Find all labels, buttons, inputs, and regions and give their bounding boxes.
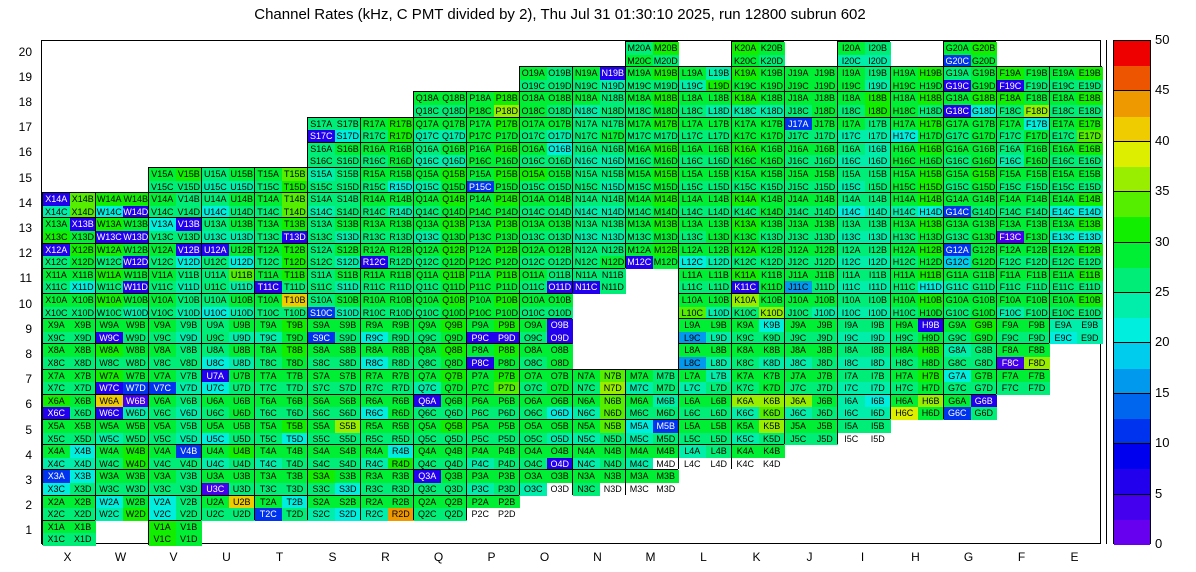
- channel-w5a: W5A: [96, 420, 123, 433]
- channel-j18a: J18A: [785, 92, 812, 105]
- channel-i18a: I18A: [838, 92, 865, 105]
- channel-m12a: M12A: [626, 244, 653, 257]
- channel-v1d: V1D: [176, 533, 203, 546]
- grid-cell-i6: I6AI6BI6CI6D: [837, 394, 890, 419]
- channel-k12b: K12B: [759, 244, 786, 257]
- channel-q16a: Q16A: [414, 143, 441, 156]
- grid-cell-s3: S3AS3BS3CS3D: [307, 469, 360, 494]
- channel-e16b: E16B: [1077, 143, 1104, 156]
- channel-v12b: V12B: [176, 244, 203, 257]
- channel-g7b: G7B: [971, 370, 998, 383]
- channel-k14a: K14A: [732, 193, 759, 206]
- channel-e9a: E9A: [1050, 319, 1077, 332]
- grid-cell-q13: Q13AQ13BQ13CQ13D: [413, 217, 466, 242]
- channel-l6a: L6A: [679, 395, 706, 408]
- grid-cell-s13: S13AS13BS13CS13D: [307, 217, 360, 242]
- grid-cell-r10: R10AR10BR10CR10D: [360, 293, 413, 318]
- channel-u2c: U2C: [202, 508, 229, 521]
- colorbar-band-17: [1114, 91, 1150, 116]
- channel-f17b: F17B: [1024, 118, 1051, 131]
- grid-cell-u7: U7AU7BU7CU7D: [201, 369, 254, 394]
- channel-s15b: S15B: [335, 168, 362, 181]
- grid-cell-k19: K19AK19BK19CK19D: [731, 66, 784, 91]
- grid-cell-m12: M12AM12BM12CM12D: [625, 243, 678, 268]
- channel-j14a: J14A: [785, 193, 812, 206]
- colorbar-band-6: [1114, 369, 1150, 394]
- channel-q6a: Q6A: [414, 395, 441, 408]
- channel-s8a: S8A: [308, 344, 335, 357]
- grid-cell-x3: X3AX3BX3CX3D: [42, 469, 95, 494]
- channel-i17a: I17A: [838, 118, 865, 131]
- channel-t5a: T5A: [255, 420, 282, 433]
- channel-o14b: O14B: [547, 193, 574, 206]
- grid-cell-k17: K17AK17BK17CK17D: [731, 117, 784, 142]
- channel-k16a: K16A: [732, 143, 759, 156]
- grid-cell-u14: U14AU14BU14CU14D: [201, 192, 254, 217]
- channel-s2b: S2B: [335, 496, 362, 509]
- grid-cell-j9: J9AJ9BJ9CJ9D: [784, 318, 837, 343]
- grid-cell-w6: W6AW6BW6CW6D: [95, 394, 148, 419]
- channel-r16a: R16A: [361, 143, 388, 156]
- grid-cell-g17: G17AG17BG17CG17D: [943, 117, 996, 142]
- channel-h13b: H13B: [918, 218, 945, 231]
- colorbar-label-20: 20: [1155, 334, 1169, 349]
- channel-g6a: G6A: [944, 395, 971, 408]
- grid-cell-f11: F11AF11BF11CF11D: [996, 268, 1049, 293]
- grid-cell-m4: M4AM4BM4CM4D: [625, 444, 678, 469]
- grid-cell-j17: J17AJ17BJ17CJ17D: [784, 117, 837, 142]
- channel-v7b: V7B: [176, 370, 203, 383]
- channel-p9b: P9B: [494, 319, 521, 332]
- channel-v14a: V14A: [149, 193, 176, 206]
- grid-cell-m19: M19AM19BM19CM19D: [625, 66, 678, 91]
- grid-cell-h10: H10AH10BH10CH10D: [890, 293, 943, 318]
- channel-h12b: H12B: [918, 244, 945, 257]
- channel-g10a: G10A: [944, 294, 971, 307]
- channel-v9a: V9A: [149, 319, 176, 332]
- grid-cell-x12: X12AX12BX12CX12D: [42, 243, 95, 268]
- grid-cell-q2: Q2AQ2BQ2CQ2D: [413, 495, 466, 520]
- grid-cell-j8: J8AJ8BJ8CJ8D: [784, 343, 837, 368]
- channel-s14b: S14B: [335, 193, 362, 206]
- channel-f11b: F11B: [1024, 269, 1051, 282]
- channel-e13a: E13A: [1050, 218, 1077, 231]
- channel-f13a: F13A: [997, 218, 1024, 231]
- channel-h9b: H9B: [918, 319, 945, 332]
- channel-v10b: V10B: [176, 294, 203, 307]
- grid-cell-g18: G18AG18BG18CG18D: [943, 91, 996, 116]
- channel-v1b: V1B: [176, 521, 203, 534]
- channel-k20b: K20B: [759, 42, 786, 55]
- y-axis-tick-6: 6: [2, 397, 32, 411]
- grid-cell-l13: L13AL13BL13CL13D: [678, 217, 731, 242]
- grid-cell-m18: M18AM18BM18CM18D: [625, 91, 678, 116]
- x-axis-tick-l: L: [677, 550, 730, 564]
- channel-n5b: N5B: [600, 420, 627, 433]
- grid-cell-v1: V1AV1BV1CV1D: [148, 520, 201, 545]
- grid-cell-p3: P3AP3BP3CP3D: [466, 469, 519, 494]
- channel-i9a: I9A: [838, 319, 865, 332]
- channel-p4a: P4A: [467, 445, 494, 458]
- channel-m7b: M7B: [653, 370, 680, 383]
- channel-t11a: T11A: [255, 269, 282, 282]
- channel-f16a: F16A: [997, 143, 1024, 156]
- channel-o3d: O3D: [547, 483, 574, 496]
- channel-u2d: U2D: [229, 508, 256, 521]
- grid-cell-o7: O7AO7BO7CO7D: [519, 369, 572, 394]
- channel-h6b: H6B: [918, 395, 945, 408]
- y-axis-tick-18: 18: [2, 95, 32, 109]
- grid-cell-e9: E9AE9BE9CE9D: [1049, 318, 1102, 343]
- channel-x12b: X12B: [70, 244, 97, 257]
- grid-cell-n4: N4AN4BN4CN4D: [572, 444, 625, 469]
- x-axis-tick-k: K: [730, 550, 783, 564]
- channel-l15b: L15B: [706, 168, 733, 181]
- channel-g14a: G14A: [944, 193, 971, 206]
- channel-o15b: O15B: [547, 168, 574, 181]
- grid-cell-x9: X9AX9BX9CX9D: [42, 318, 95, 343]
- channel-o17b: O17B: [547, 118, 574, 131]
- channel-k19b: K19B: [759, 67, 786, 80]
- grid-cell-t10: T10AT10BT10CT10D: [254, 293, 307, 318]
- channel-i20b: I20B: [865, 42, 892, 55]
- channel-j12b: J12B: [812, 244, 839, 257]
- grid-cell-q5: Q5AQ5BQ5CQ5D: [413, 419, 466, 444]
- channel-h10b: H10B: [918, 294, 945, 307]
- channel-h7b: H7B: [918, 370, 945, 383]
- channel-k12a: K12A: [732, 244, 759, 257]
- channel-r7a: R7A: [361, 370, 388, 383]
- channel-g11a: G11A: [944, 269, 971, 282]
- channel-q14a: Q14A: [414, 193, 441, 206]
- channel-r2c: R2C: [361, 508, 388, 521]
- colorbar-tick-5: [1113, 494, 1151, 495]
- grid-cell-l11: L11AL11BL11CL11D: [678, 268, 731, 293]
- y-axis-tick-9: 9: [2, 322, 32, 336]
- channel-i13a: I13A: [838, 218, 865, 231]
- grid-cell-v2: V2AV2BV2CV2D: [148, 495, 201, 520]
- channel-w8b: W8B: [123, 344, 150, 357]
- channel-e16a: E16A: [1050, 143, 1077, 156]
- channel-p11b: P11B: [494, 269, 521, 282]
- grid-cell-n6: N6AN6BN6CN6D: [572, 394, 625, 419]
- channel-p8b: P8B: [494, 344, 521, 357]
- grid-cell-m15: M15AM15BM15CM15D: [625, 167, 678, 192]
- channel-l11a: L11A: [679, 269, 706, 282]
- grid-cell-o8: O8AO8BO8CO8D: [519, 343, 572, 368]
- channel-w11b: W11B: [123, 269, 150, 282]
- channel-f8a: F8A: [997, 344, 1024, 357]
- channel-e11b: E11B: [1077, 269, 1104, 282]
- grid-cell-w14: W14AW14BW14CW14D: [95, 192, 148, 217]
- channel-q12a: Q12A: [414, 244, 441, 257]
- grid-cell-x13: X13AX13BX13CX13D: [42, 217, 95, 242]
- channel-m17b: M17B: [653, 118, 680, 131]
- channel-x13a: X13A: [43, 218, 70, 231]
- channel-k14b: K14B: [759, 193, 786, 206]
- channel-i17b: I17B: [865, 118, 892, 131]
- channel-q2a: Q2A: [414, 496, 441, 509]
- channel-w12a: W12A: [96, 244, 123, 257]
- channel-g15a: G15A: [944, 168, 971, 181]
- channel-p13a: P13A: [467, 218, 494, 231]
- channel-h16b: H16B: [918, 143, 945, 156]
- grid-cell-i16: I16AI16BI16CI16D: [837, 142, 890, 167]
- grid-cell-o6: O6AO6BO6CO6D: [519, 394, 572, 419]
- grid-cell-j5: J5AJ5BJ5CJ5D: [784, 419, 837, 444]
- channel-j7a: J7A: [785, 370, 812, 383]
- grid-cell-g9: G9AG9BG9CG9D: [943, 318, 996, 343]
- channel-t13b: T13B: [282, 218, 309, 231]
- grid-cell-i13: I13AI13BI13CI13D: [837, 217, 890, 242]
- channel-t2c: T2C: [255, 508, 282, 521]
- channel-s13b: S13B: [335, 218, 362, 231]
- grid-cell-o14: O14AO14BO14CO14D: [519, 192, 572, 217]
- channel-j11b: J11B: [812, 269, 839, 282]
- grid-cell-p7: P7AP7BP7CP7D: [466, 369, 519, 394]
- channel-m3b: M3B: [653, 470, 680, 483]
- channel-s10a: S10A: [308, 294, 335, 307]
- channel-m12b: M12B: [653, 244, 680, 257]
- channel-l4d: L4D: [706, 458, 733, 471]
- channel-j13b: J13B: [812, 218, 839, 231]
- channel-p15b: P15B: [494, 168, 521, 181]
- grid-cell-p15: P15AP15BP15CP15D: [466, 167, 519, 192]
- grid-cell-j10: J10AJ10BJ10CJ10D: [784, 293, 837, 318]
- channel-p13b: P13B: [494, 218, 521, 231]
- grid-cell-v5: V5AV5BV5CV5D: [148, 419, 201, 444]
- channel-w2c: W2C: [96, 508, 123, 521]
- channel-t4b: T4B: [282, 445, 309, 458]
- channel-n7b: N7B: [600, 370, 627, 383]
- channel-p12b: P12B: [494, 244, 521, 257]
- grid-cell-w5: W5AW5BW5CW5D: [95, 419, 148, 444]
- grid-cell-o10: O10AO10BO10CO10D: [519, 293, 572, 318]
- channel-r15b: R15B: [388, 168, 415, 181]
- channel-q8b: Q8B: [441, 344, 468, 357]
- channel-q9b: Q9B: [441, 319, 468, 332]
- grid-cell-u12: U12AU12BU12CU12D: [201, 243, 254, 268]
- grid-cell-j6: J6AJ6BJ6CJ6D: [784, 394, 837, 419]
- grid-cell-q4: Q4AQ4BQ4CQ4D: [413, 444, 466, 469]
- grid-cell-l14: L14AL14BL14CL14D: [678, 192, 731, 217]
- channel-v9b: V9B: [176, 319, 203, 332]
- channel-m13a: M13A: [626, 218, 653, 231]
- channel-g11b: G11B: [971, 269, 998, 282]
- channel-v3b: V3B: [176, 470, 203, 483]
- channel-j11a: J11A: [785, 269, 812, 282]
- channel-p7a: P7A: [467, 370, 494, 383]
- channel-x4b: X4B: [70, 445, 97, 458]
- channel-g18b: G18B: [971, 92, 998, 105]
- y-axis-tick-20: 20: [2, 45, 32, 59]
- channel-p14a: P14A: [467, 193, 494, 206]
- channel-t2d: T2D: [282, 508, 309, 521]
- channel-v10a: V10A: [149, 294, 176, 307]
- channel-s3b: S3B: [335, 470, 362, 483]
- grid-cell-v14: V14AV14BV14CV14D: [148, 192, 201, 217]
- channel-x14a: X14A: [43, 193, 70, 206]
- channel-m12d: M12D: [653, 256, 680, 269]
- channel-q3b: Q3B: [441, 470, 468, 483]
- channel-j17b: J17B: [812, 118, 839, 131]
- grid-cell-e13: E13AE13BE13CE13D: [1049, 217, 1102, 242]
- channel-k5b: K5B: [759, 420, 786, 433]
- channel-g19a: G19A: [944, 67, 971, 80]
- channel-p17b: P17B: [494, 118, 521, 131]
- channel-l17a: L17A: [679, 118, 706, 131]
- channel-p2c: P2C: [467, 508, 494, 521]
- channel-i19b: I19B: [865, 67, 892, 80]
- grid-cell-n19: N19AN19BN19CN19D: [572, 66, 625, 91]
- channel-v13b: V13B: [176, 218, 203, 231]
- channel-m7a: M7A: [626, 370, 653, 383]
- channel-q14b: Q14B: [441, 193, 468, 206]
- channel-o11a: O11A: [520, 269, 547, 282]
- grid-cell-k14: K14AK14BK14CK14D: [731, 192, 784, 217]
- grid-cell-s15: S15AS15BS15CS15D: [307, 167, 360, 192]
- channel-k17a: K17A: [732, 118, 759, 131]
- grid-cell-u15: U15AU15BU15CU15D: [201, 167, 254, 192]
- channel-h14b: H14B: [918, 193, 945, 206]
- channel-m13b: M13B: [653, 218, 680, 231]
- channel-w14b: W14B: [123, 193, 150, 206]
- channel-o12a: O12A: [520, 244, 547, 257]
- channel-q7b: Q7B: [441, 370, 468, 383]
- channel-l14b: L14B: [706, 193, 733, 206]
- colorbar-band-4: [1114, 419, 1150, 444]
- channel-q10a: Q10A: [414, 294, 441, 307]
- grid-cell-l17: L17AL17BL17CL17D: [678, 117, 731, 142]
- channel-s16a: S16A: [308, 143, 335, 156]
- channel-j5d: J5D: [812, 433, 839, 446]
- grid-cell-x14: X14AX14BX14CX14D: [42, 192, 95, 217]
- grid-cell-n7: N7AN7BN7CN7D: [572, 369, 625, 394]
- channel-w13b: W13B: [123, 218, 150, 231]
- channel-q11b: Q11B: [441, 269, 468, 282]
- channel-o8b: O8B: [547, 344, 574, 357]
- grid-cell-w7: W7AW7BW7CW7D: [95, 369, 148, 394]
- channel-e9b: E9B: [1077, 319, 1104, 332]
- channel-o16a: O16A: [520, 143, 547, 156]
- grid-cell-t15: T15AT15BT15CT15D: [254, 167, 307, 192]
- channel-u8b: U8B: [229, 344, 256, 357]
- channel-l18a: L18A: [679, 92, 706, 105]
- channel-u2b: U2B: [229, 496, 256, 509]
- channel-x3b: X3B: [70, 470, 97, 483]
- grid-cell-p4: P4AP4BP4CP4D: [466, 444, 519, 469]
- channel-s5a: S5A: [308, 420, 335, 433]
- channel-w10a: W10A: [96, 294, 123, 307]
- channel-f12a: F12A: [997, 244, 1024, 257]
- channel-n11d: N11D: [600, 281, 627, 294]
- x-axis-tick-t: T: [253, 550, 306, 564]
- channel-n14b: N14B: [600, 193, 627, 206]
- channel-r3b: R3B: [388, 470, 415, 483]
- channel-r11b: R11B: [388, 269, 415, 282]
- channel-p11a: P11A: [467, 269, 494, 282]
- channel-n3a: N3A: [573, 470, 600, 483]
- grid-cell-i11: I11AI11BI11CI11D: [837, 268, 890, 293]
- channel-h11a: H11A: [891, 269, 918, 282]
- grid-cell-f8: F8AF8BF8CF8D: [996, 343, 1049, 368]
- grid-cell-s8: S8AS8BS8CS8D: [307, 343, 360, 368]
- grid-cell-j14: J14AJ14BJ14CJ14D: [784, 192, 837, 217]
- channel-k10a: K10A: [732, 294, 759, 307]
- channel-m15b: M15B: [653, 168, 680, 181]
- colorbar-band-9: [1114, 293, 1150, 318]
- grid-cell-l6: L6AL6BL6CL6D: [678, 394, 731, 419]
- channel-r4a: R4A: [361, 445, 388, 458]
- channel-o5b: O5B: [547, 420, 574, 433]
- channel-w7b: W7B: [123, 370, 150, 383]
- channel-n11c: N11C: [573, 281, 600, 294]
- channel-r13b: R13B: [388, 218, 415, 231]
- channel-v1a: V1A: [149, 521, 176, 534]
- channel-f18a: F18A: [997, 92, 1024, 105]
- grid-cell-g6: G6AG6BG6CG6D: [943, 394, 996, 419]
- channel-n6a: N6A: [573, 395, 600, 408]
- channel-m6a: M6A: [626, 395, 653, 408]
- grid-cell-l4: L4AL4BL4CL4D: [678, 444, 731, 469]
- channel-l12b: L12B: [706, 244, 733, 257]
- channel-l11b: L11B: [706, 269, 733, 282]
- grid-cell-o12: O12AO12BO12CO12D: [519, 243, 572, 268]
- colorbar-band-14: [1114, 167, 1150, 192]
- channel-m5a: M5A: [626, 420, 653, 433]
- channel-h14a: H14A: [891, 193, 918, 206]
- channel-n11a: N11A: [573, 269, 600, 282]
- channel-r14b: R14B: [388, 193, 415, 206]
- channel-m19b: M19B: [653, 67, 680, 80]
- grid-cell-t5: T5AT5BT5CT5D: [254, 419, 307, 444]
- channel-w10b: W10B: [123, 294, 150, 307]
- channel-w3a: W3A: [96, 470, 123, 483]
- grid-cell-v13: V13AV13BV13CV13D: [148, 217, 201, 242]
- channel-t5b: T5B: [282, 420, 309, 433]
- grid-cell-h6: H6AH6BH6CH6D: [890, 394, 943, 419]
- channel-h13a: H13A: [891, 218, 918, 231]
- channel-k4d: K4D: [759, 458, 786, 471]
- channel-o7a: O7A: [520, 370, 547, 383]
- channel-x9a: X9A: [43, 319, 70, 332]
- channel-i10b: I10B: [865, 294, 892, 307]
- channel-r2d: R2D: [388, 508, 415, 521]
- channel-j8a: J8A: [785, 344, 812, 357]
- channel-k8b: K8B: [759, 344, 786, 357]
- grid-cell-n5: N5AN5BN5CN5D: [572, 419, 625, 444]
- grid-cell-x6: X6AX6BX6CX6D: [42, 394, 95, 419]
- channel-u3a: U3A: [202, 470, 229, 483]
- channel-o3b: O3B: [547, 470, 574, 483]
- channel-l18b: L18B: [706, 92, 733, 105]
- channel-m3a: M3A: [626, 470, 653, 483]
- channel-u11a: U11A: [202, 269, 229, 282]
- grid-cell-j7: J7AJ7BJ7CJ7D: [784, 369, 837, 394]
- x-axis-tick-x: X: [41, 550, 94, 564]
- grid-cell-l18: L18AL18BL18CL18D: [678, 91, 731, 116]
- channel-s3a: S3A: [308, 470, 335, 483]
- grid-cell-r3: R3AR3BR3CR3D: [360, 469, 413, 494]
- channel-j10b: J10B: [812, 294, 839, 307]
- grid-cell-r5: R5AR5BR5CR5D: [360, 419, 413, 444]
- channel-o13b: O13B: [547, 218, 574, 231]
- grid-cell-w9: W9AW9BW9CW9D: [95, 318, 148, 343]
- grid-cell-p6: P6AP6BP6CP6D: [466, 394, 519, 419]
- colorbar-label-10: 10: [1155, 435, 1169, 450]
- grid-cell-v6: V6AV6BV6CV6D: [148, 394, 201, 419]
- channel-h6d: H6D: [918, 407, 945, 420]
